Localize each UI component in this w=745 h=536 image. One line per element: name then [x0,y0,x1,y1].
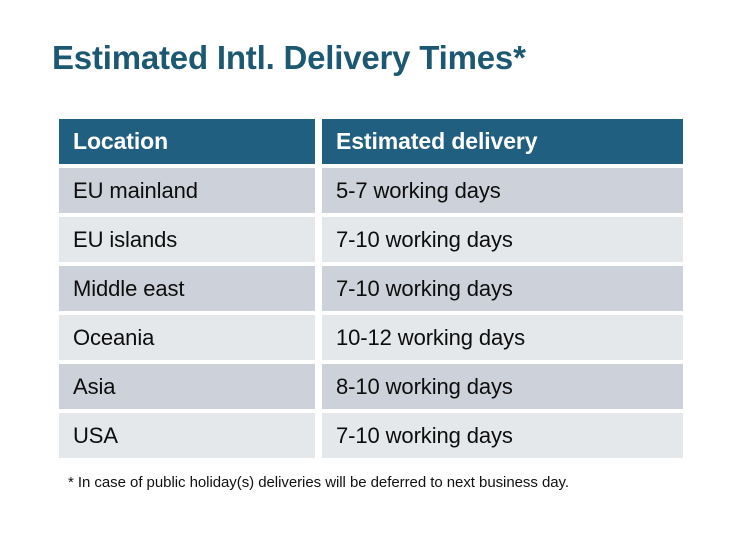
cell-location: Oceania [59,315,315,360]
cell-delivery: 7-10 working days [322,266,683,311]
column-header-location: Location [59,119,315,164]
footnote-text: * In case of public holiday(s) deliverie… [68,474,569,491]
table-row: USA 7-10 working days [59,413,683,458]
table-body: EU mainland 5-7 working days EU islands … [59,168,683,458]
table-row: EU mainland 5-7 working days [59,168,683,213]
table-row: EU islands 7-10 working days [59,217,683,262]
cell-delivery: 7-10 working days [322,413,683,458]
cell-location: EU islands [59,217,315,262]
cell-delivery: 5-7 working days [322,168,683,213]
delivery-times-page: Estimated Intl. Delivery Times* Location… [0,0,745,536]
table-header: Location Estimated delivery [59,119,683,164]
table-row: Oceania 10-12 working days [59,315,683,360]
cell-delivery: 10-12 working days [322,315,683,360]
cell-location: Asia [59,364,315,409]
table-row: Middle east 7-10 working days [59,266,683,311]
cell-delivery: 7-10 working days [322,217,683,262]
column-header-estimated-delivery: Estimated delivery [322,119,683,164]
page-title: Estimated Intl. Delivery Times* [52,36,526,80]
table-header-row: Location Estimated delivery [59,119,683,164]
cell-location: EU mainland [59,168,315,213]
table-row: Asia 8-10 working days [59,364,683,409]
cell-location: USA [59,413,315,458]
delivery-times-table: Location Estimated delivery EU mainland … [52,115,690,462]
cell-location: Middle east [59,266,315,311]
cell-delivery: 8-10 working days [322,364,683,409]
